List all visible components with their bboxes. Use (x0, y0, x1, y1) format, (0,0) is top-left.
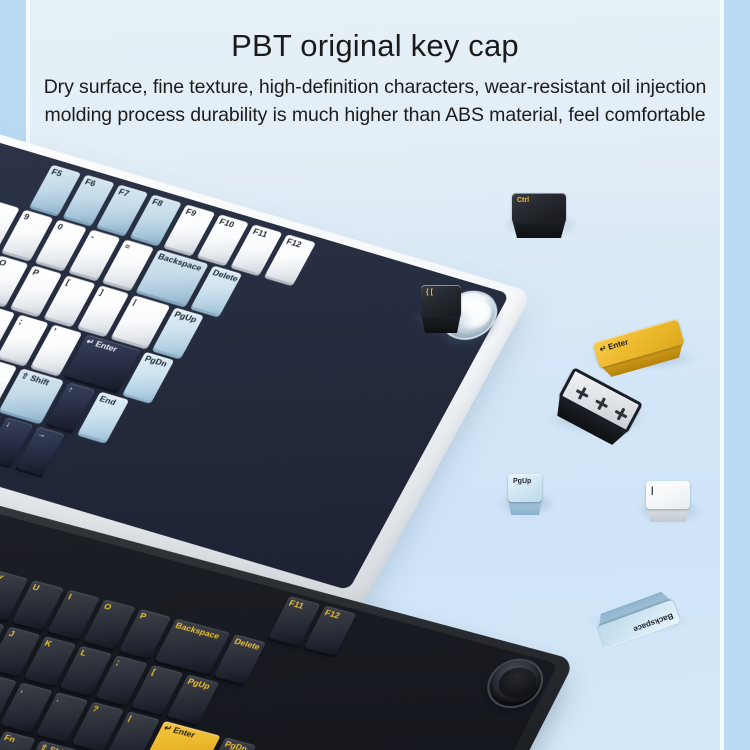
keycap-legend: End (98, 394, 118, 407)
keycap-legend: F9 (184, 207, 198, 218)
keycap-top-face: { [ (421, 285, 461, 317)
product-image-stage: PBT original key cap Dry surface, fine t… (0, 0, 750, 750)
keycap-legend: ; (115, 658, 122, 667)
keycap-legend: [ (64, 278, 71, 287)
keycap-top-face: Ctrl (512, 193, 566, 223)
keycap-legend: F6 (83, 177, 97, 188)
keycap-legend: K (43, 639, 53, 649)
keycap-legend: Fn (3, 733, 17, 744)
keycap-legend: Ctrl (517, 197, 529, 204)
keycap-legend: Y (0, 573, 5, 583)
keycap-legend: ↵ Enter (599, 337, 630, 354)
page-title: PBT original key cap (30, 0, 720, 64)
keycap-legend: → (36, 429, 49, 439)
keycap-legend: ↑ (66, 385, 74, 394)
keycap-legend: PgUp (513, 478, 531, 485)
page-subtitle: Dry surface, fine texture, high-definiti… (30, 64, 720, 129)
keycap-legend: ] (98, 288, 105, 297)
keycap-legend: - (89, 232, 96, 241)
keycap-legend: ; (17, 317, 24, 326)
keycap-legend: O (0, 258, 8, 268)
keycap-legend: | (131, 298, 138, 307)
keycap-legend: I (67, 592, 73, 601)
keycap-legend: 0 (56, 222, 65, 231)
keycap-legend: F11 (287, 599, 305, 611)
keycap-legend: | (127, 714, 133, 723)
keycap-legend: F8 (151, 197, 165, 208)
keycap-legend: ? (91, 704, 100, 713)
keycap-legend: [ (150, 667, 157, 676)
keycap-legend: U (31, 583, 41, 593)
keycap-top-face: | (646, 481, 690, 509)
keycap-legend: F5 (50, 167, 64, 178)
keycap-legend: PgDn (143, 354, 169, 368)
ctrl-cap[interactable]: Ctrl (512, 193, 566, 244)
keycap-legend: F10 (218, 217, 236, 229)
keycap-legend: PgUp (186, 677, 212, 691)
keycap-legend: . (55, 695, 61, 704)
background-edge-right (724, 0, 750, 750)
pgup-cap[interactable]: PgUp (508, 474, 542, 522)
header: PBT original key cap Dry surface, fine t… (30, 0, 720, 129)
keycap-legend: F12 (285, 237, 303, 249)
keycap-legend: L (79, 648, 88, 657)
keycap-legend: ' (51, 327, 57, 336)
keycap-stem (612, 405, 630, 423)
keycap-legend: = (123, 242, 132, 251)
keycap-legend: O (102, 602, 113, 612)
keycap-stem (593, 395, 611, 413)
keycap-legend: F12 (323, 608, 341, 620)
keycap-legend: ↓ (4, 420, 12, 429)
keycap-legend: F11 (251, 227, 269, 239)
keycap-stem (573, 385, 591, 403)
keycap-legend: F7 (117, 187, 131, 198)
keycap-legend: P (31, 268, 41, 278)
background-divider-right (720, 0, 724, 750)
bracket-cap[interactable]: { [ (421, 285, 461, 339)
pipe-cap[interactable]: | (646, 481, 690, 529)
keycap-legend: { [ (426, 289, 433, 296)
keycap-legend: | (651, 485, 654, 495)
keycap-legend: P (138, 611, 148, 621)
keycap-legend: J (7, 629, 16, 638)
keycap-legend: 9 (22, 212, 31, 221)
keycap-legend: , (19, 685, 25, 694)
keycap-legend: PgUp (173, 310, 199, 324)
keycap-top-face: PgUp (508, 474, 542, 502)
